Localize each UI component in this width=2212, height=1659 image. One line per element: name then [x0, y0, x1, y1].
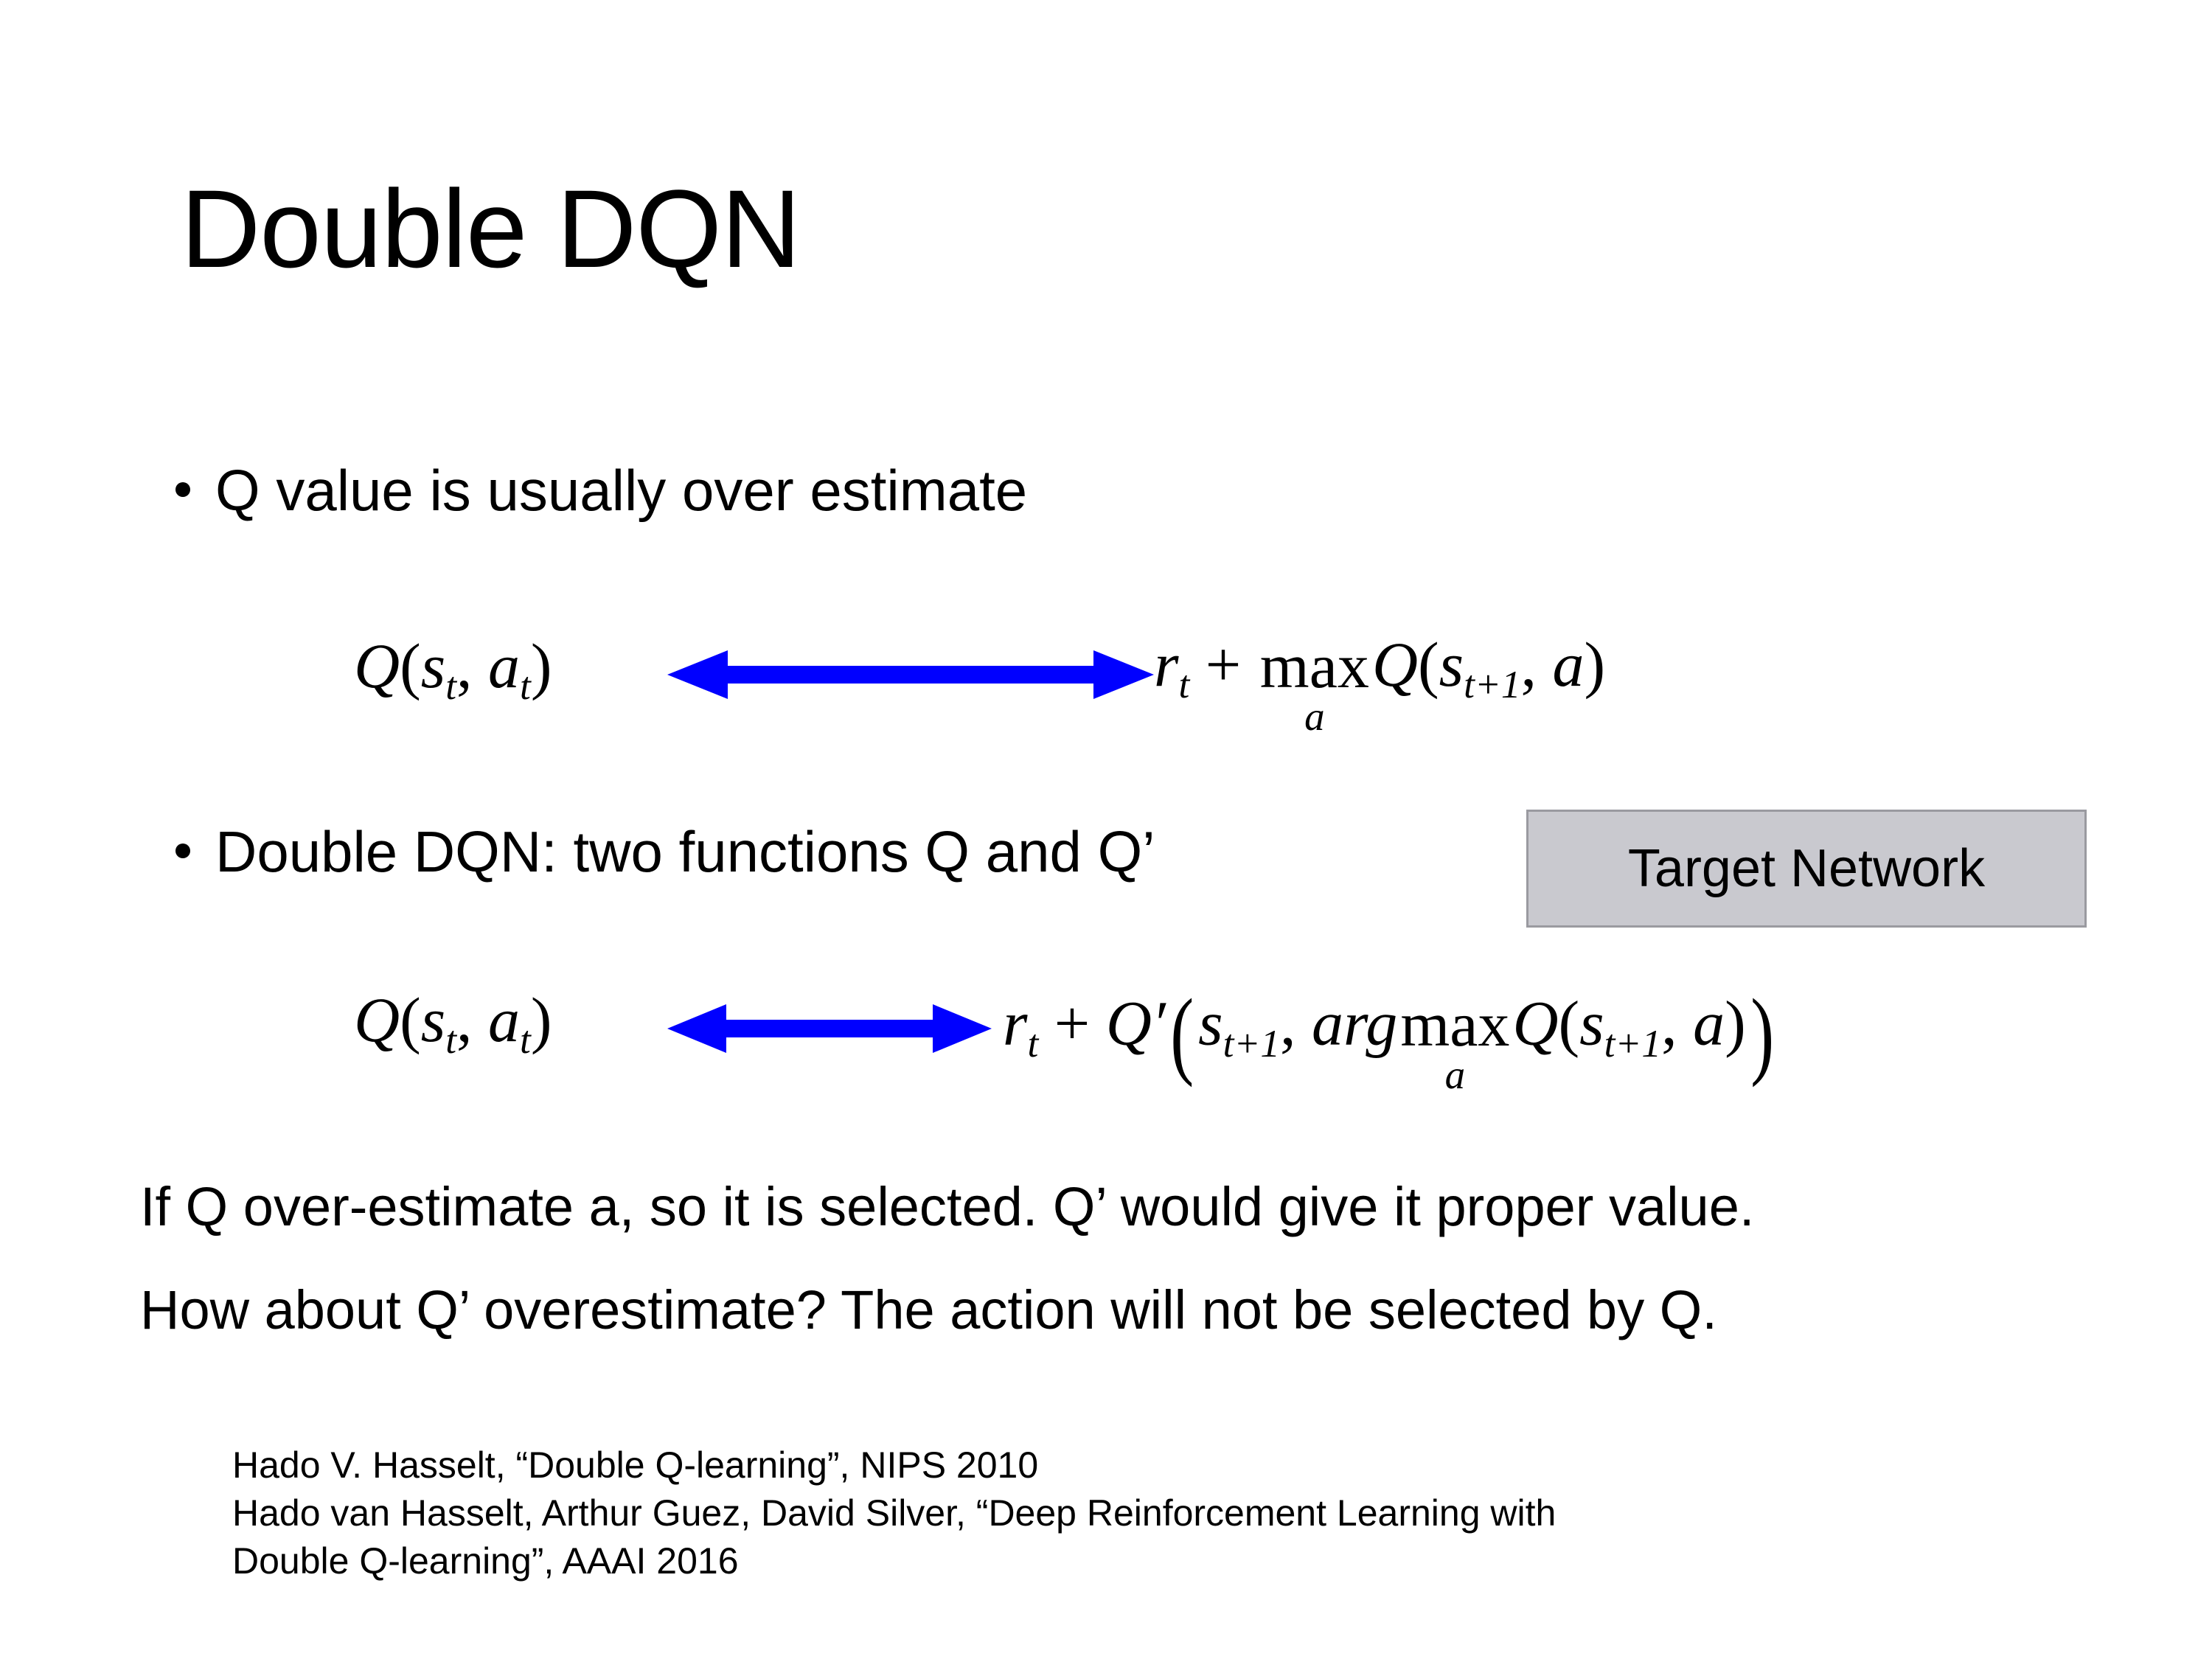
- eq2-lhs-q: Q: [354, 984, 400, 1055]
- eq1-lhs-s: s: [421, 630, 445, 701]
- eq2-rhs-a-inner: a: [1693, 988, 1725, 1059]
- eq2-lhs-open-paren: (: [400, 984, 421, 1055]
- bullet-item-label: Q value is usually over estimate: [215, 461, 1027, 521]
- eq2-rhs-s-outer-sub: t+1: [1223, 1024, 1280, 1063]
- eq1-lhs-s-sub: t: [445, 667, 456, 706]
- equation-2-rhs: rt + Q′(st+1, argmaxaQ(st+1, a)): [1003, 984, 1778, 1095]
- equation-1-lhs: Q(st, at): [354, 634, 552, 706]
- reference-line-3: Double Q-learning”, AAAI 2016: [232, 1537, 1556, 1585]
- eq2-rhs-r-sub: t: [1027, 1024, 1038, 1063]
- page-title: Double DQN: [181, 173, 800, 284]
- eq2-lhs-s-sub: t: [445, 1020, 456, 1060]
- eq2-lhs-close-paren: ): [531, 984, 552, 1055]
- eq2-lhs-a-sub: t: [520, 1020, 531, 1060]
- bullet-item-q-value: Q value is usually over estimate: [175, 461, 1027, 521]
- eq2-rhs-q-prime: Q′: [1106, 988, 1166, 1059]
- eq2-rhs-arg: arg: [1312, 988, 1397, 1059]
- eq2-lhs-a: a: [488, 984, 520, 1055]
- eq1-lhs-a: a: [488, 630, 520, 701]
- eq2-rhs-open-paren-inner: (: [1559, 988, 1580, 1059]
- eq1-rhs-open-paren: (: [1418, 629, 1439, 700]
- eq1-rhs-close-paren: ): [1585, 629, 1606, 700]
- equation-1-rhs: rt + maxaQ(st+1, a): [1154, 633, 1605, 737]
- eq2-rhs-s-inner: s: [1579, 988, 1604, 1059]
- eq2-rhs-r: r: [1003, 988, 1027, 1059]
- equation-1-double-arrow-icon: [667, 649, 1154, 700]
- eq2-lhs-comma: ,: [456, 984, 488, 1055]
- eq2-rhs-max-underset: a: [1445, 1054, 1466, 1095]
- eq1-rhs-max-operator: maxa: [1257, 634, 1372, 737]
- eq1-lhs-a-sub: t: [520, 667, 531, 706]
- reference-line-2: Hado van Hasselt, Arthur Guez, David Sil…: [232, 1489, 1556, 1537]
- bullet-item-double-dqn: Double DQN: two functions Q and Q’: [175, 822, 1155, 883]
- eq2-rhs-big-open-paren: (: [1170, 984, 1194, 1082]
- references-block: Hado V. Hasselt, “Double Q-learning”, NI…: [232, 1441, 1556, 1585]
- eq1-rhs-s-sub: t+1: [1464, 665, 1520, 704]
- eq2-rhs-close-paren-inner: ): [1725, 988, 1746, 1059]
- bullet-item-label: Double DQN: two functions Q and Q’: [215, 822, 1155, 883]
- reference-line-1: Hado V. Hasselt, “Double Q-learning”, NI…: [232, 1441, 1556, 1489]
- target-network-label: Target Network: [1628, 838, 1985, 899]
- eq2-rhs-big-close-paren: ): [1750, 984, 1774, 1082]
- eq1-rhs-r: r: [1154, 629, 1178, 700]
- eq1-rhs-r-sub: t: [1178, 665, 1189, 704]
- eq2-rhs-plus: +: [1038, 988, 1106, 1059]
- eq2-lhs-s: s: [421, 984, 445, 1055]
- eq1-rhs-s: s: [1439, 629, 1464, 700]
- eq2-rhs-s-inner-sub: t+1: [1604, 1024, 1661, 1063]
- eq1-rhs-q: Q: [1372, 629, 1418, 700]
- eq2-rhs-max-label: max: [1400, 992, 1509, 1056]
- bullet-dot-icon: [175, 482, 190, 497]
- eq2-rhs-comma-outer: ,: [1280, 988, 1312, 1059]
- eq1-lhs-q: Q: [354, 630, 400, 701]
- slide-canvas: Double DQN Q value is usually over estim…: [0, 0, 2212, 1659]
- eq2-rhs-max-operator: maxa: [1397, 992, 1512, 1095]
- eq1-lhs-close-paren: ): [531, 630, 552, 701]
- equation-2-double-arrow-icon: [667, 1003, 992, 1054]
- explanation-line-2: How about Q’ overestimate? The action wi…: [140, 1283, 1717, 1338]
- eq1-rhs-a: a: [1553, 629, 1585, 700]
- target-network-callout: Target Network: [1526, 810, 2087, 928]
- eq2-rhs-comma-inner: ,: [1661, 988, 1693, 1059]
- eq2-rhs-q-inner: Q: [1512, 988, 1558, 1059]
- equation-2-lhs: Q(st, at): [354, 988, 552, 1060]
- eq1-rhs-max-label: max: [1260, 634, 1369, 698]
- eq2-rhs-s-outer: s: [1198, 988, 1222, 1059]
- bullet-dot-icon: [175, 844, 190, 858]
- eq1-lhs-open-paren: (: [400, 630, 421, 701]
- explanation-line-1: If Q over-estimate a, so it is selected.…: [140, 1180, 1754, 1234]
- eq1-rhs-plus: +: [1189, 629, 1257, 700]
- eq1-lhs-comma: ,: [456, 630, 488, 701]
- eq1-rhs-comma: ,: [1521, 629, 1553, 700]
- eq1-rhs-max-underset: a: [1304, 696, 1325, 737]
